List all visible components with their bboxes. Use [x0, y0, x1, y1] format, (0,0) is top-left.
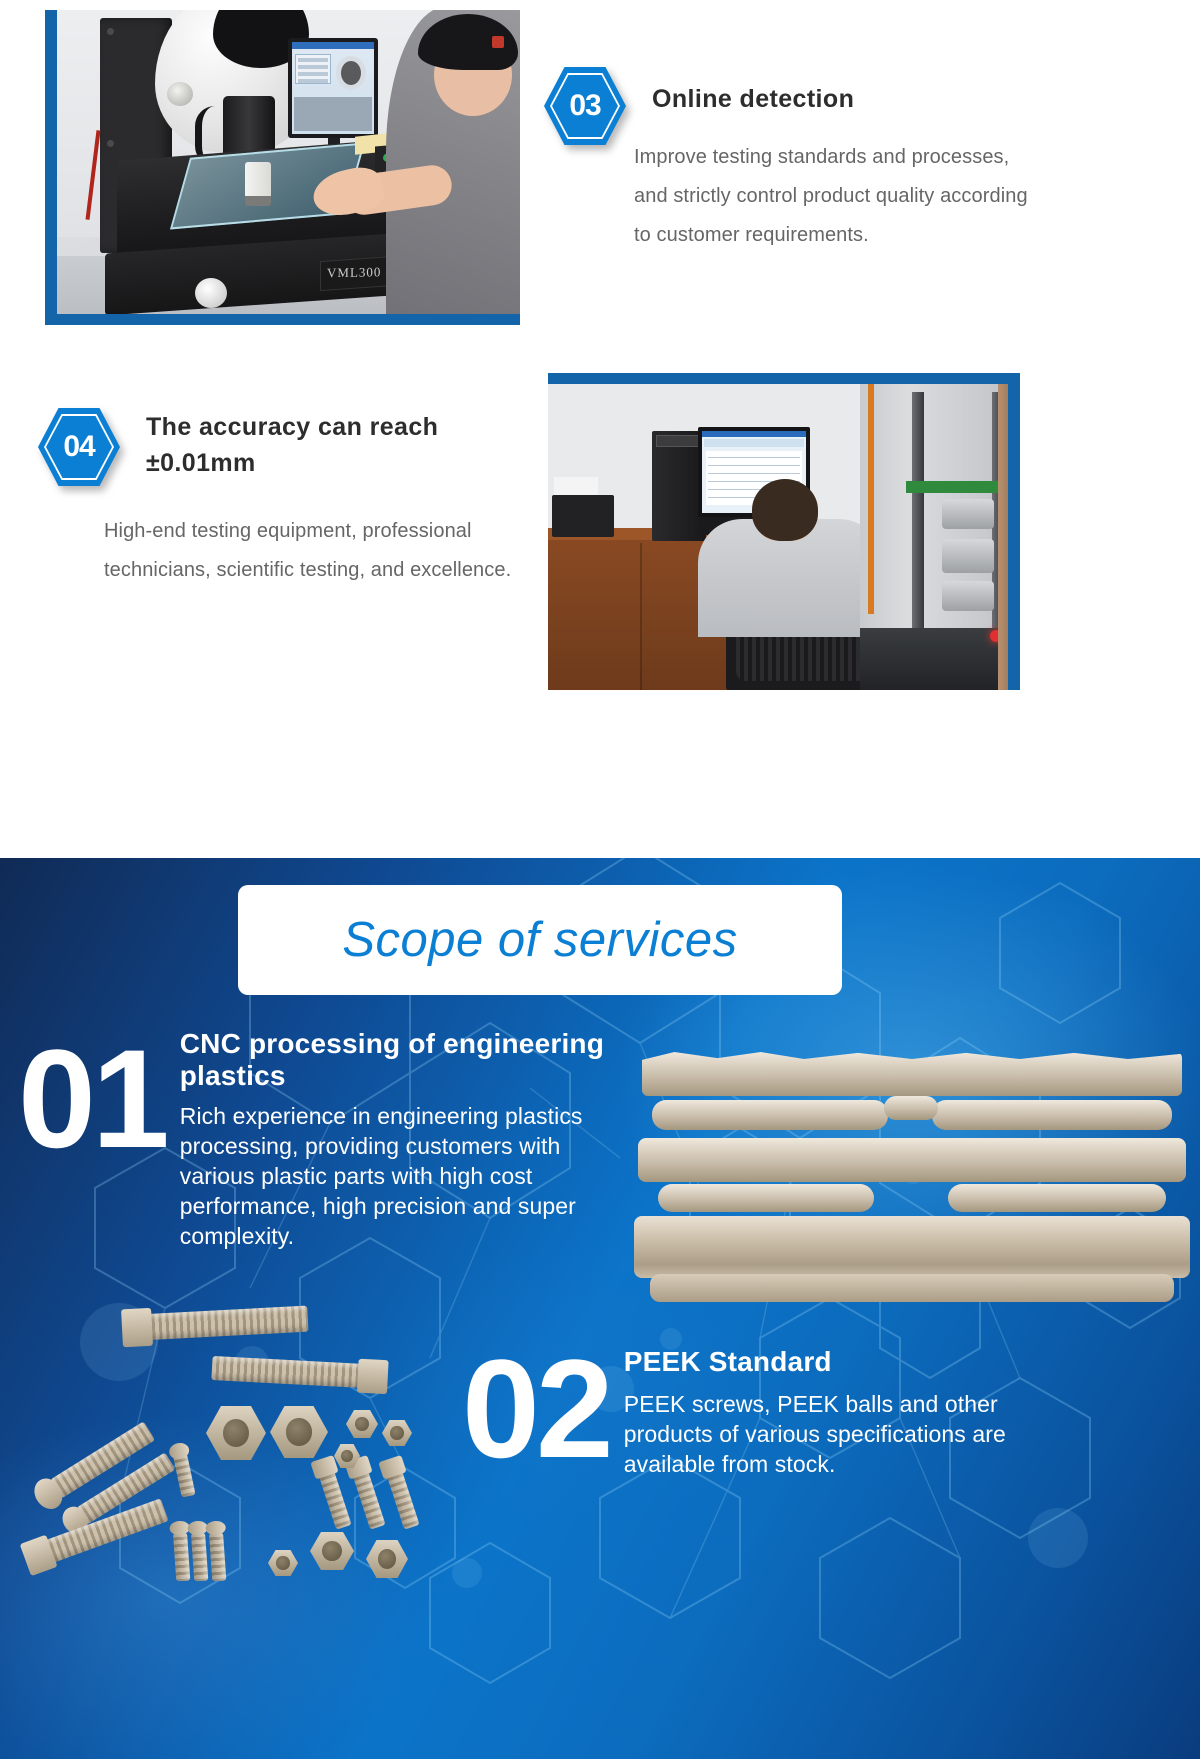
service-title-peek: PEEK Standard: [624, 1346, 1034, 1378]
measurement-monitor: [288, 38, 378, 138]
feature-badge-number: 04: [38, 408, 120, 486]
photo-online-detection: VML300: [45, 10, 520, 325]
product-image-peek-fasteners: [30, 1288, 480, 1588]
feature-image-online-detection: VML300: [45, 10, 520, 325]
feature-badge-number: 03: [544, 67, 626, 145]
scope-of-services-section: Scope of services: [0, 858, 1200, 1759]
service-item-01: 01 CNC processing of engineering plastic…: [18, 1028, 620, 1251]
service-number: 01: [18, 1042, 166, 1157]
feature-badge-03: 03: [544, 67, 626, 145]
machine-model-label: VML300: [327, 264, 381, 281]
photo-accent-bottom: [45, 314, 520, 325]
feature-badge-04: 04: [38, 408, 120, 486]
tensile-testing-machine: [860, 373, 1020, 690]
scope-title-text: Scope of services: [342, 912, 737, 968]
service-item-02: 02 PEEK Standard PEEK screws, PEEK balls…: [462, 1346, 1034, 1480]
service-description-peek: PEEK screws, PEEK balls and other produc…: [624, 1390, 1034, 1480]
service-description-cnc: Rich experience in engineering plastics …: [180, 1102, 620, 1251]
feature-title-accuracy: The accuracy can reach ±0.01mm: [146, 410, 546, 481]
photo-accent-top: [548, 373, 1020, 384]
feature-description-accuracy: High-end testing equipment, professional…: [104, 512, 534, 590]
service-title-cnc: CNC processing of engineering plastics: [180, 1028, 620, 1092]
feature-description-online-detection: Improve testing standards and processes,…: [634, 138, 1034, 255]
photo-accent-right: [1008, 373, 1020, 690]
photo-accent-left: [45, 10, 57, 325]
scope-title-card: Scope of services: [238, 885, 842, 995]
feature-title-online-detection: Online detection: [652, 82, 1052, 118]
features-section: VML300 03 Online detection Improve testi…: [0, 0, 1200, 858]
feature-image-accuracy: [548, 373, 1020, 690]
photo-tensile-lab: [548, 373, 1020, 690]
service-number: 02: [462, 1352, 610, 1467]
product-image-chain-plate: [632, 1048, 1192, 1313]
